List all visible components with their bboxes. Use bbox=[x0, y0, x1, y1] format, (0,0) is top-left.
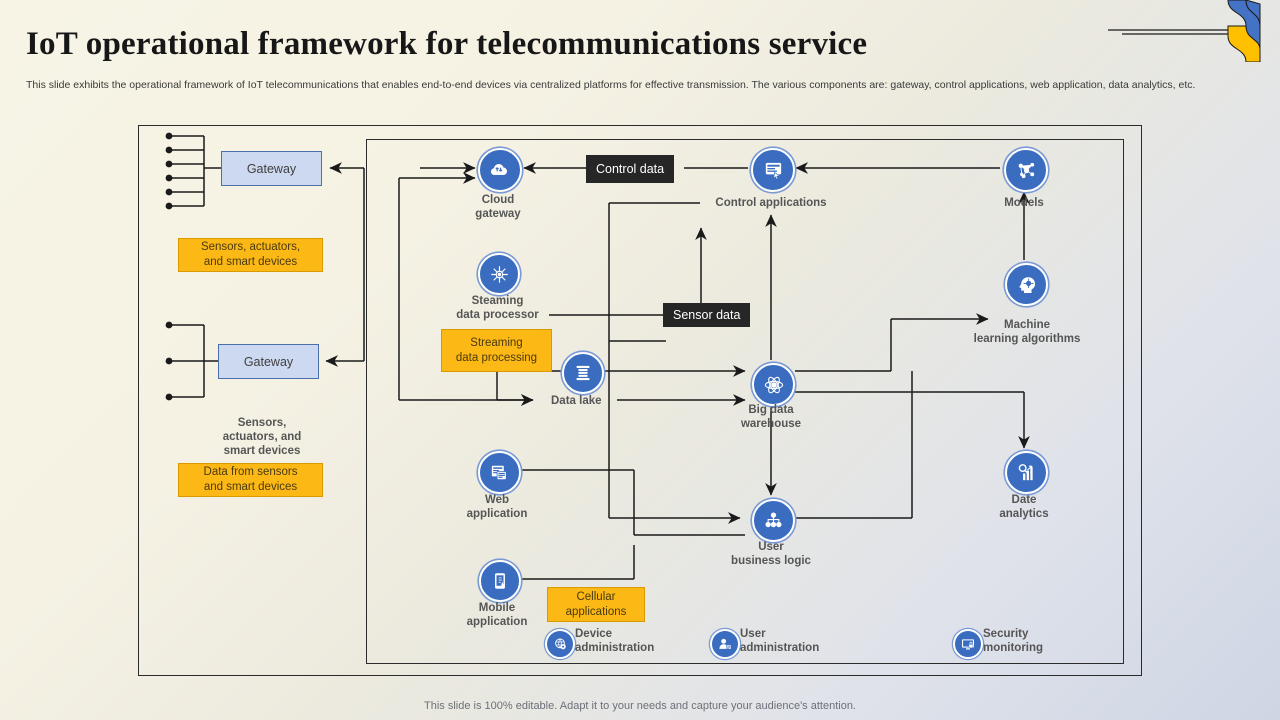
sensors-actuators-caption: Sensors, actuators, and smart devices bbox=[183, 402, 341, 458]
streaming-data-processing-tag-label: Streaming data processing bbox=[456, 336, 537, 366]
models-network-icon bbox=[1004, 148, 1048, 192]
web-page-icon bbox=[478, 451, 521, 494]
node-date-analytics-label: Date analytics bbox=[964, 493, 1084, 521]
gateway-box-bottom[interactable]: Gateway bbox=[218, 344, 319, 379]
node-user-administration-label: User administration bbox=[740, 627, 860, 655]
control-data-label-text: Control data bbox=[596, 162, 664, 176]
node-streaming-processor-label: Steaming data processor bbox=[430, 294, 565, 322]
page-title: IoT operational framework for telecommun… bbox=[26, 26, 1176, 63]
slide-footer-note: This slide is 100% editable. Adapt it to… bbox=[0, 700, 1280, 712]
page-subtitle: This slide exhibits the operational fram… bbox=[26, 78, 1206, 93]
node-models-label: Models bbox=[964, 196, 1084, 210]
node-control-applications-label: Control applications bbox=[686, 196, 856, 210]
cellular-applications-tag-label: Cellular applications bbox=[566, 590, 627, 620]
node-device-administration-label: Device administration bbox=[575, 627, 695, 655]
ai-brain-head-icon bbox=[1005, 263, 1048, 306]
cloud-upload-download-icon bbox=[478, 148, 522, 192]
user-badge-icon bbox=[710, 629, 740, 659]
smartphone-icon bbox=[479, 560, 521, 602]
atom-icon bbox=[752, 363, 795, 406]
gateway-box-top[interactable]: Gateway bbox=[221, 151, 322, 186]
control-panel-icon bbox=[751, 148, 795, 192]
sensor-data-label: Sensor data bbox=[663, 303, 750, 327]
org-hierarchy-icon bbox=[752, 499, 795, 542]
hub-spoke-icon bbox=[478, 253, 520, 295]
cellular-applications-tag[interactable]: Cellular applications bbox=[547, 587, 645, 622]
streaming-data-processing-tag[interactable]: Streaming data processing bbox=[441, 329, 552, 372]
data-from-sensors-tag-label: Data from sensors and smart devices bbox=[204, 465, 298, 495]
control-data-label: Control data bbox=[586, 155, 674, 183]
slide-canvas: IoT operational framework for telecommun… bbox=[0, 0, 1280, 720]
node-data-lake-label: Data lake bbox=[551, 394, 661, 408]
node-user-business-logic-label: User business logic bbox=[706, 540, 836, 568]
gateway-box-top-label: Gateway bbox=[247, 162, 296, 176]
bar-chart-search-icon bbox=[1005, 451, 1048, 494]
node-web-application-label: Web application bbox=[441, 493, 553, 521]
node-big-data-warehouse-label: Big data warehouse bbox=[710, 403, 832, 431]
gateway-box-bottom-label: Gateway bbox=[244, 355, 293, 369]
sensor-data-label-text: Sensor data bbox=[673, 308, 740, 322]
node-security-monitoring-label: Security monitoring bbox=[983, 627, 1103, 655]
node-machine-learning-label: Machine learning algorithms bbox=[943, 318, 1111, 346]
node-cloud-gateway-label: Cloud gateway bbox=[443, 193, 553, 221]
database-stack-icon bbox=[562, 352, 604, 394]
data-from-sensors-tag[interactable]: Data from sensors and smart devices bbox=[178, 463, 323, 497]
monitor-lock-icon bbox=[953, 629, 983, 659]
device-gear-icon bbox=[545, 629, 575, 659]
sensors-actuators-caption-label: Sensors, actuators, and smart devices bbox=[223, 417, 302, 457]
sensors-actuators-tag-label: Sensors, actuators, and smart devices bbox=[201, 240, 300, 270]
brand-logo-decoration bbox=[1100, 0, 1280, 62]
sensors-actuators-tag[interactable]: Sensors, actuators, and smart devices bbox=[178, 238, 323, 272]
node-mobile-application-label: Mobile application bbox=[441, 601, 553, 629]
